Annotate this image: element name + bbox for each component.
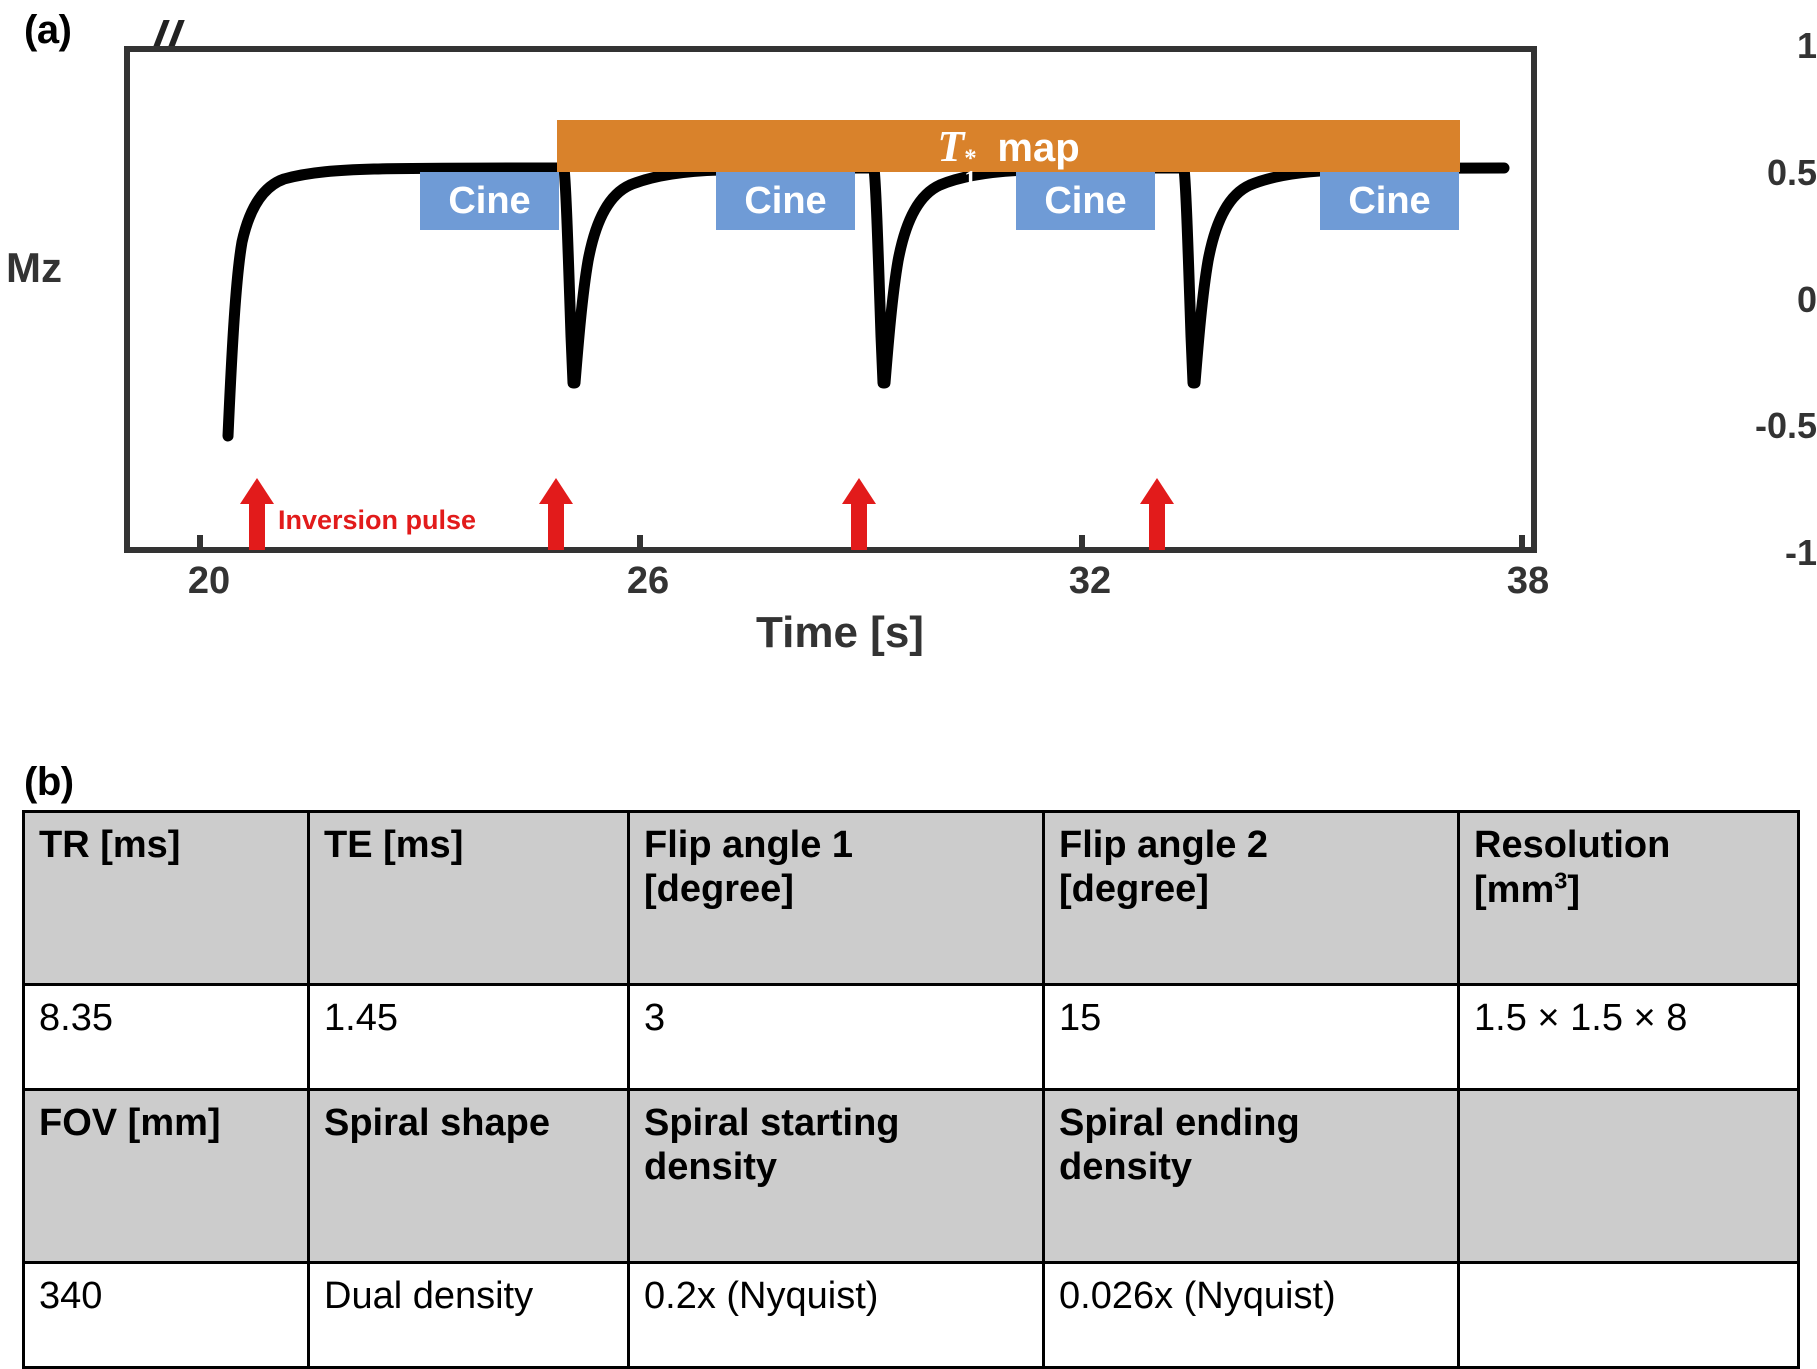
inversion-arrow-2: [539, 478, 573, 550]
cell-spiral-end-header: Spiral endingdensity: [1044, 1090, 1459, 1263]
y-axis-title: Mz: [6, 244, 62, 292]
cine-block-3: Cine: [1016, 172, 1155, 230]
cine-block-2: Cine: [716, 172, 855, 230]
flip1-line2: [degree]: [644, 868, 794, 910]
inversion-arrow-4: [1140, 478, 1174, 550]
panel-b-label: (b): [24, 760, 74, 805]
panel-a-label: (a): [24, 8, 71, 53]
x-tick-mark-32: [1079, 535, 1085, 553]
panel-a-plot: (a) 1 0.5 0 -0.5 -1 Mz // // T*1 map Cin…: [0, 0, 1817, 700]
res-line2: [mm3]: [1474, 869, 1580, 911]
cine-block-2-label: Cine: [744, 180, 826, 223]
y-tick-label-neg0p5: -0.5: [1717, 405, 1817, 447]
res-unit-pre: [mm: [1474, 869, 1554, 911]
cell-spiral-start-value: 0.2x (Nyquist): [629, 1263, 1044, 1368]
cell-tr-header: TR [ms]: [24, 812, 309, 985]
t1-star-map-label: T*1 map: [937, 121, 1079, 172]
cell-spiral-end-value: 0.026x (Nyquist): [1044, 1263, 1459, 1368]
x-tick-mark-20: [197, 535, 203, 553]
cell-flip1-value: 3: [629, 985, 1044, 1090]
arrow-shaft: [851, 500, 867, 550]
cine-block-4: Cine: [1320, 172, 1459, 230]
spiral-start-line2: density: [644, 1146, 777, 1188]
arrow-shaft: [1149, 500, 1165, 550]
cell-te-header: TE [ms]: [309, 812, 629, 985]
spiral-end-line1: Spiral ending: [1059, 1102, 1300, 1144]
table-row-values-2: 340 Dual density 0.2x (Nyquist) 0.026x (…: [24, 1263, 1799, 1368]
inversion-arrow-1: [240, 478, 274, 550]
flip1-line1: Flip angle 1: [644, 824, 853, 866]
table-row-values-1: 8.35 1.45 3 15 1.5 × 1.5 × 8: [24, 985, 1799, 1090]
arrow-shaft: [548, 500, 564, 550]
cell-fov-header: FOV [mm]: [24, 1090, 309, 1263]
x-tick-mark-38: [1519, 535, 1525, 553]
cell-te-value: 1.45: [309, 985, 629, 1090]
cell-empty-value: [1459, 1263, 1799, 1368]
cine-block-3-label: Cine: [1044, 180, 1126, 223]
cell-empty-header: [1459, 1090, 1799, 1263]
x-axis-title: Time [s]: [0, 608, 1680, 658]
y-tick-label-1: 1: [1717, 25, 1817, 67]
cine-block-1-label: Cine: [448, 180, 530, 223]
flip2-line1: Flip angle 2: [1059, 824, 1268, 866]
inversion-pulse-annotation: Inversion pulse: [278, 505, 476, 536]
inversion-arrow-3: [842, 478, 876, 550]
res-line1: Resolution: [1474, 824, 1670, 866]
res-unit-post: ]: [1567, 869, 1580, 911]
x-tick-label-20: 20: [188, 560, 230, 603]
x-tick-label-26: 26: [627, 560, 669, 603]
x-tick-label-32: 32: [1069, 560, 1111, 603]
cell-tr-value: 8.35: [24, 985, 309, 1090]
parameter-table: TR [ms] TE [ms] Flip angle 1[degree] Fli…: [22, 810, 1800, 1369]
res-unit-sup: 3: [1554, 867, 1567, 893]
cell-spiral-shape-value: Dual density: [309, 1263, 629, 1368]
cell-flip2-header: Flip angle 2[degree]: [1044, 812, 1459, 985]
cine-block-4-label: Cine: [1348, 180, 1430, 223]
table-row-header-2: FOV [mm] Spiral shape Spiral startingden…: [24, 1090, 1799, 1263]
cine-block-1: Cine: [420, 172, 559, 230]
y-tick-label-0: 0: [1717, 279, 1817, 321]
t1-star-map-bar: T*1 map: [557, 120, 1460, 172]
x-tick-label-38: 38: [1507, 560, 1549, 603]
arrow-shaft: [249, 500, 265, 550]
cell-flip1-header: Flip angle 1[degree]: [629, 812, 1044, 985]
cell-spiral-shape-header: Spiral shape: [309, 1090, 629, 1263]
spiral-end-line2: density: [1059, 1146, 1192, 1188]
y-tick-label-0p5: 0.5: [1717, 152, 1817, 194]
y-tick-label-neg1: -1: [1717, 532, 1817, 574]
spiral-start-line1: Spiral starting: [644, 1102, 900, 1144]
cell-resolution-header: Resolution[mm3]: [1459, 812, 1799, 985]
flip2-line2: [degree]: [1059, 868, 1209, 910]
table-row-header-1: TR [ms] TE [ms] Flip angle 1[degree] Fli…: [24, 812, 1799, 985]
cell-resolution-value: 1.5 × 1.5 × 8: [1459, 985, 1799, 1090]
cell-spiral-start-header: Spiral startingdensity: [629, 1090, 1044, 1263]
cell-fov-value: 340: [24, 1263, 309, 1368]
x-tick-mark-26: [637, 535, 643, 553]
cell-flip2-value: 15: [1044, 985, 1459, 1090]
